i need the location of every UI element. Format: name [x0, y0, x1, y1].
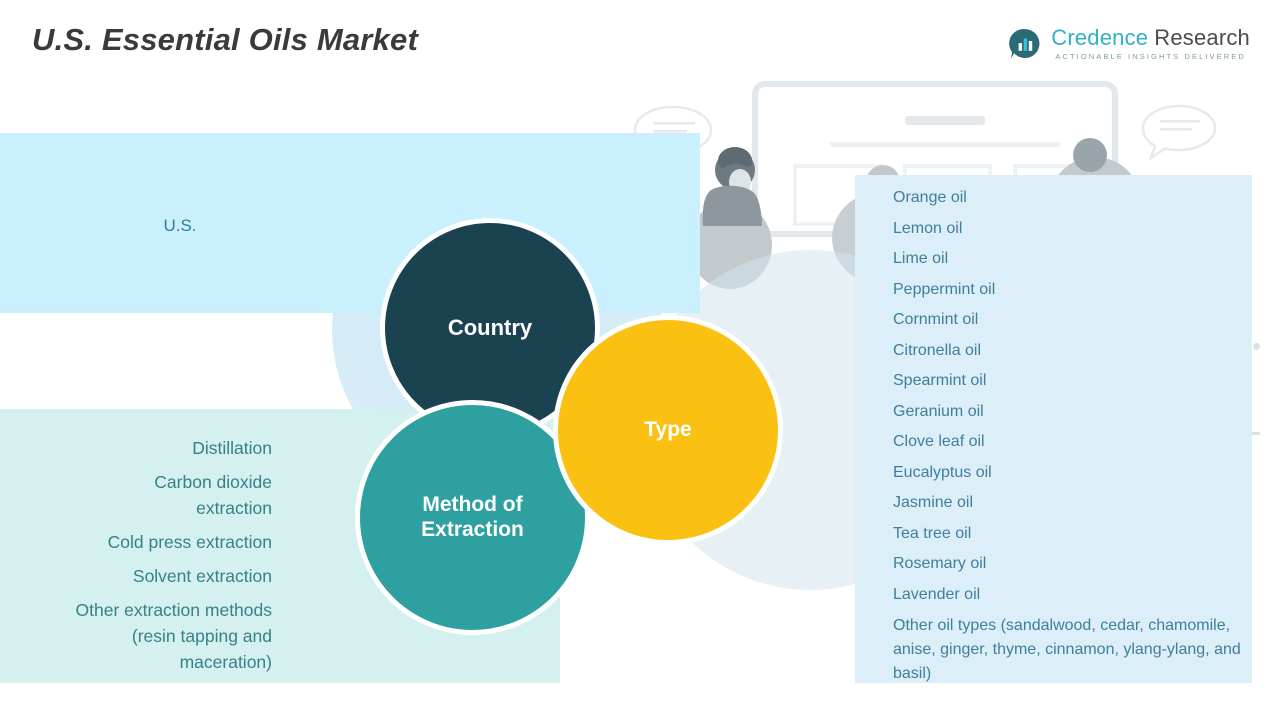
bubble-country-label: Country: [448, 315, 532, 341]
list-item: Jasmine oil: [893, 488, 1243, 519]
list-item: Cold press extraction: [0, 529, 272, 555]
logo-brand-primary: Credence: [1051, 25, 1148, 50]
bubble-method-label: Method of Extraction: [421, 493, 524, 543]
list-item: Rosemary oil: [893, 549, 1243, 580]
list-item: Lime oil: [893, 244, 1243, 275]
list-country: U.S.: [0, 210, 360, 241]
list-item-line: Carbon dioxide extraction: [154, 472, 272, 518]
list-item: Other extraction methods (resin tapping …: [0, 597, 272, 675]
bar-chart-circle-icon: [1008, 27, 1042, 61]
list-item: Distillation: [0, 435, 272, 461]
logo-tagline: Actionable Insights Delivered: [1051, 53, 1250, 61]
list-method: Distillation Carbon dioxide extraction C…: [0, 435, 272, 683]
bubble-type-label: Type: [644, 418, 691, 443]
logo-wordmark: CredenceResearch: [1051, 27, 1250, 49]
page-title: U.S. Essential Oils Market: [32, 22, 418, 58]
bubble-type[interactable]: Type: [553, 315, 783, 545]
list-item: Spearmint oil: [893, 366, 1243, 397]
list-item: U.S.: [0, 210, 360, 241]
list-item: Tea tree oil: [893, 519, 1243, 550]
list-item: Clove leaf oil: [893, 427, 1243, 458]
company-logo: CredenceResearch Actionable Insights Del…: [1008, 27, 1250, 61]
list-item: Orange oil: [893, 183, 1243, 214]
list-item: Lemon oil: [893, 214, 1243, 245]
list-item: Eucalyptus oil: [893, 458, 1243, 489]
list-item: Peppermint oil: [893, 275, 1243, 306]
list-item: Geranium oil: [893, 397, 1243, 428]
slide-canvas: U.S. Essential Oils Market CredenceResea…: [0, 0, 1280, 720]
logo-brand-secondary: Research: [1154, 25, 1250, 50]
logo-text: CredenceResearch Actionable Insights Del…: [1051, 27, 1250, 61]
decor-dot-right: [1253, 343, 1260, 350]
list-item: Cornmint oil: [893, 305, 1243, 336]
list-item-line: Other extraction methods (resin tapping …: [76, 600, 272, 672]
list-item: Lavender oil: [893, 580, 1243, 611]
list-type: Orange oil Lemon oil Lime oil Peppermint…: [893, 183, 1243, 686]
list-item: Solvent extraction: [0, 563, 272, 589]
list-item: Citronella oil: [893, 336, 1243, 367]
list-item: Other oil types (sandalwood, cedar, cham…: [893, 614, 1243, 686]
list-item: Carbon dioxide extraction: [0, 469, 272, 521]
speech-bubble-right-icon: [1143, 106, 1215, 158]
